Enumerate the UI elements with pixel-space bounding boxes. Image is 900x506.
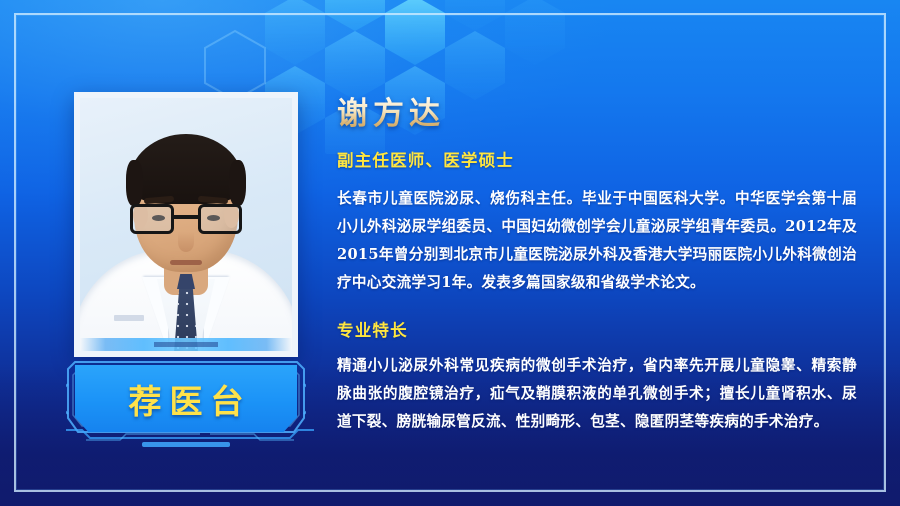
eyeglass-lens-right: [198, 204, 242, 234]
hair-shape: [129, 134, 243, 204]
doctor-portrait-photo: [80, 98, 292, 351]
photo-bottom-light-strip: [80, 338, 292, 351]
doctor-profile-card: 荐医台 谢方达 副主任医师、医学硕士 长春市儿童医院泌尿、烧伤科主任。毕业于中国…: [0, 0, 900, 506]
doctor-specialty-text: 精通小儿泌尿外科常见疾病的微创手术治疗，省内率先开展儿童隐睾、精索静脉曲张的腹腔…: [337, 352, 857, 436]
name-plate: 荐医台: [66, 360, 306, 444]
mouth-shape: [170, 260, 202, 265]
specialty-heading: 专业特长: [337, 317, 857, 341]
doctor-name: 谢方达: [337, 96, 857, 133]
doctor-biography: 长春市儿童医院泌尿、烧伤科主任。毕业于中国医科大学。中华医学会第十届小儿外科泌尿…: [337, 185, 857, 297]
doctor-info-column: 谢方达 副主任医师、医学硕士 长春市儿童医院泌尿、烧伤科主任。毕业于中国医科大学…: [337, 96, 857, 436]
eyeglass-lens-left: [130, 204, 174, 234]
coat-pocket-badge: [114, 315, 144, 321]
nose-shape: [178, 232, 194, 252]
doctor-photo-frame: [74, 92, 298, 357]
eyeglass-bridge: [174, 215, 198, 219]
name-plate-label: 荐医台: [75, 365, 297, 432]
doctor-title: 副主任医师、医学硕士: [337, 147, 857, 171]
